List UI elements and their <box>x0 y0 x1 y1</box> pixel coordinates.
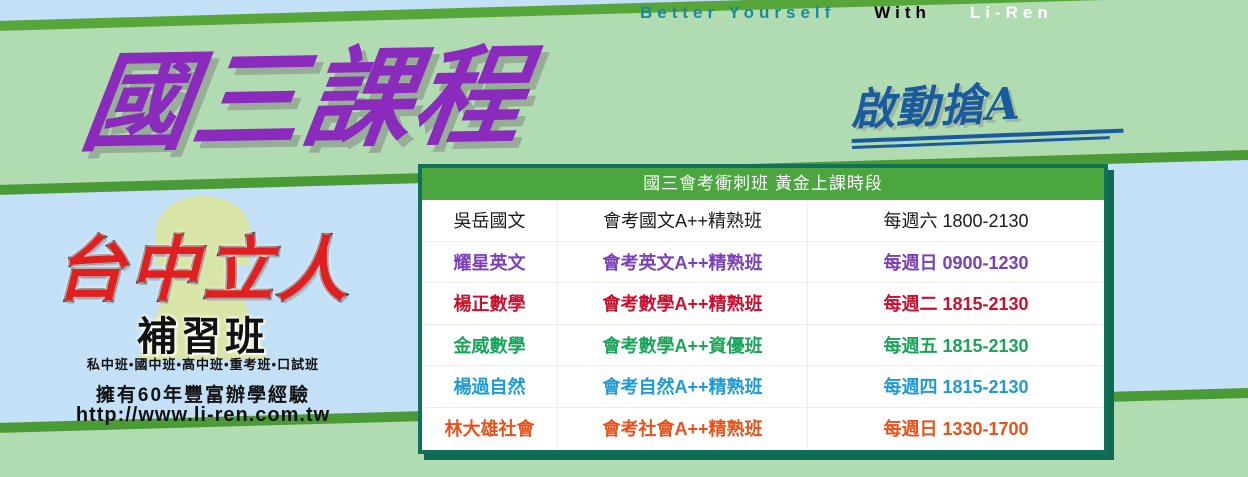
cell-teacher: 楊過自然 <box>422 366 558 407</box>
cell-time: 每週二 1815-2130 <box>808 283 1104 324</box>
table-row: 楊正數學會考數學A++精熟班每週二 1815-2130 <box>422 283 1104 325</box>
cell-course: 會考社會A++精熟班 <box>558 408 808 450</box>
cell-course: 會考數學A++資優班 <box>558 325 808 366</box>
schedule-table: 國三會考衝刺班 黃金上課時段 吳岳國文會考國文A++精熟班每週六 1800-21… <box>418 164 1108 454</box>
schedule-table-header: 國三會考衝刺班 黃金上課時段 <box>422 168 1104 200</box>
table-row: 吳岳國文會考國文A++精熟班每週六 1800-2130 <box>422 200 1104 242</box>
cell-time: 每週五 1815-2130 <box>808 325 1104 366</box>
table-row: 金威數學會考數學A++資優班每週五 1815-2130 <box>422 325 1104 367</box>
subtitle: 啟動搶A <box>849 64 1123 138</box>
table-row: 耀星英文會考英文A++精熟班每週日 0900-1230 <box>422 242 1104 284</box>
cell-time: 每週日 1330-1700 <box>808 408 1104 450</box>
cell-teacher: 耀星英文 <box>422 242 558 283</box>
cell-teacher: 林大雄社會 <box>422 408 558 450</box>
table-row: 楊過自然會考自然A++精熟班每週四 1815-2130 <box>422 366 1104 408</box>
cell-teacher: 金威數學 <box>422 325 558 366</box>
cell-teacher: 楊正數學 <box>422 283 558 324</box>
tagline-part-better-yourself: Better Yourself <box>640 3 835 22</box>
logo-website-url[interactable]: http://www.li-ren.com.tw <box>28 404 378 427</box>
promo-poster: Better Yourself With Li-Ren 國三課程 啟動搶A 台中… <box>0 0 1248 477</box>
schedule-table-body: 吳岳國文會考國文A++精熟班每週六 1800-2130耀星英文會考英文A++精熟… <box>422 200 1104 449</box>
cell-time: 每週四 1815-2130 <box>808 366 1104 407</box>
cell-course: 會考國文A++精熟班 <box>558 200 808 241</box>
tagline-part-li-ren: Li-Ren <box>970 3 1053 22</box>
cell-time: 每週六 1800-2130 <box>808 200 1104 241</box>
tagline: Better Yourself With Li-Ren <box>640 1 1248 25</box>
cell-course: 會考自然A++精熟班 <box>558 366 808 407</box>
logo-name-main: 台中立人 <box>28 214 378 315</box>
subtitle-group: 啟動搶A <box>849 64 1124 149</box>
cell-course: 會考數學A++精熟班 <box>558 283 808 324</box>
cell-teacher: 吳岳國文 <box>422 200 558 241</box>
tagline-part-with: With <box>874 3 931 22</box>
school-logo: 台中立人 補習班 私中班•國中班•高中班•重考班•口試班 擁有60年豐富辦學經驗… <box>28 196 378 426</box>
page-title: 國三課程 <box>74 9 537 173</box>
cell-course: 會考英文A++精熟班 <box>558 242 808 283</box>
table-row: 林大雄社會會考社會A++精熟班每週日 1330-1700 <box>422 408 1104 450</box>
logo-experience-text: 擁有60年豐富辦學經驗 <box>28 380 378 407</box>
logo-class-list: 私中班•國中班•高中班•重考班•口試班 <box>28 354 378 373</box>
cell-time: 每週日 0900-1230 <box>808 242 1104 283</box>
